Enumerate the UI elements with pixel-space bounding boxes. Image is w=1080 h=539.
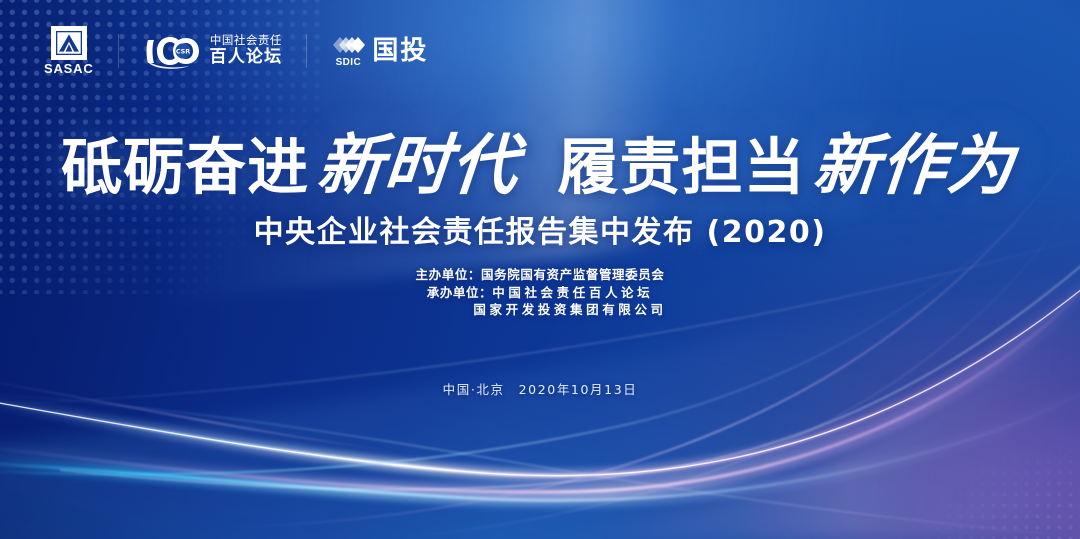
footer-date: 2020年10月13日	[519, 382, 638, 397]
logo-divider-2	[306, 34, 307, 68]
sdic-chinese-name: 国投	[372, 38, 428, 64]
sdic-wordmark: SDIC	[336, 57, 362, 68]
sdic-chevron-mark-icon: SDIC	[331, 33, 365, 68]
headline-segment-3: 履责担当	[557, 117, 805, 206]
csr-wordmark: 中国社会责任 百人论坛	[210, 35, 283, 67]
logo-divider-1	[118, 34, 119, 68]
csr-badge-text: CSR	[175, 47, 189, 55]
footer-location: 中国·北京	[443, 382, 505, 397]
csr-100-mark-icon: CSR	[143, 33, 201, 69]
organizer-coorg-label: 承办单位：	[427, 285, 493, 300]
footer-date-location: 中国·北京2020年10月13日	[0, 379, 1080, 398]
logo-bar: SASAC CSR 中国社会责任 百人论坛	[44, 26, 428, 75]
organizer-host-label: 主办单位：	[416, 267, 482, 282]
headline-segment-2: 新时代	[313, 112, 522, 208]
organizer-coorg-value: 中国社会责任百人论坛	[492, 285, 653, 300]
organizer-block: 主办单位：国务院国有资产监督管理委员会 承办单位：中国社会责任百人论坛 国家开发…	[0, 266, 1080, 319]
headline: 砥砺奋进 新时代 履责担当 新作为	[0, 112, 1080, 208]
poster-canvas: SASAC CSR 中国社会责任 百人论坛	[0, 0, 1080, 539]
csr-line-1: 中国社会责任	[210, 35, 282, 47]
organizer-line-host: 主办单位：国务院国有资产监督管理委员会	[0, 266, 1080, 284]
subtitle: 中央企业社会责任报告集中发布 (2020)	[0, 207, 1080, 251]
organizer-coorg2-value: 国家开发投资集团有限公司	[473, 302, 666, 317]
headline-segment-4: 新作为	[810, 112, 1019, 208]
logo-csr-100-forum[interactable]: CSR 中国社会责任 百人论坛	[143, 33, 283, 69]
headline-segment-1: 砥砺奋进	[61, 117, 309, 206]
logo-sdic[interactable]: SDIC 国投	[331, 33, 428, 68]
sasac-wordmark: SASAC	[44, 62, 94, 75]
csr-line-2: 百人论坛	[210, 49, 283, 66]
organizer-line-coorganizer: 承办单位：中国社会责任百人论坛	[0, 284, 1080, 302]
sasac-triangle-mark-icon	[51, 26, 87, 60]
organizer-line-coorganizer-2: 国家开发投资集团有限公司	[0, 301, 1080, 319]
organizer-host-value: 国务院国有资产监督管理委员会	[481, 267, 664, 282]
logo-sasac[interactable]: SASAC	[44, 26, 94, 75]
